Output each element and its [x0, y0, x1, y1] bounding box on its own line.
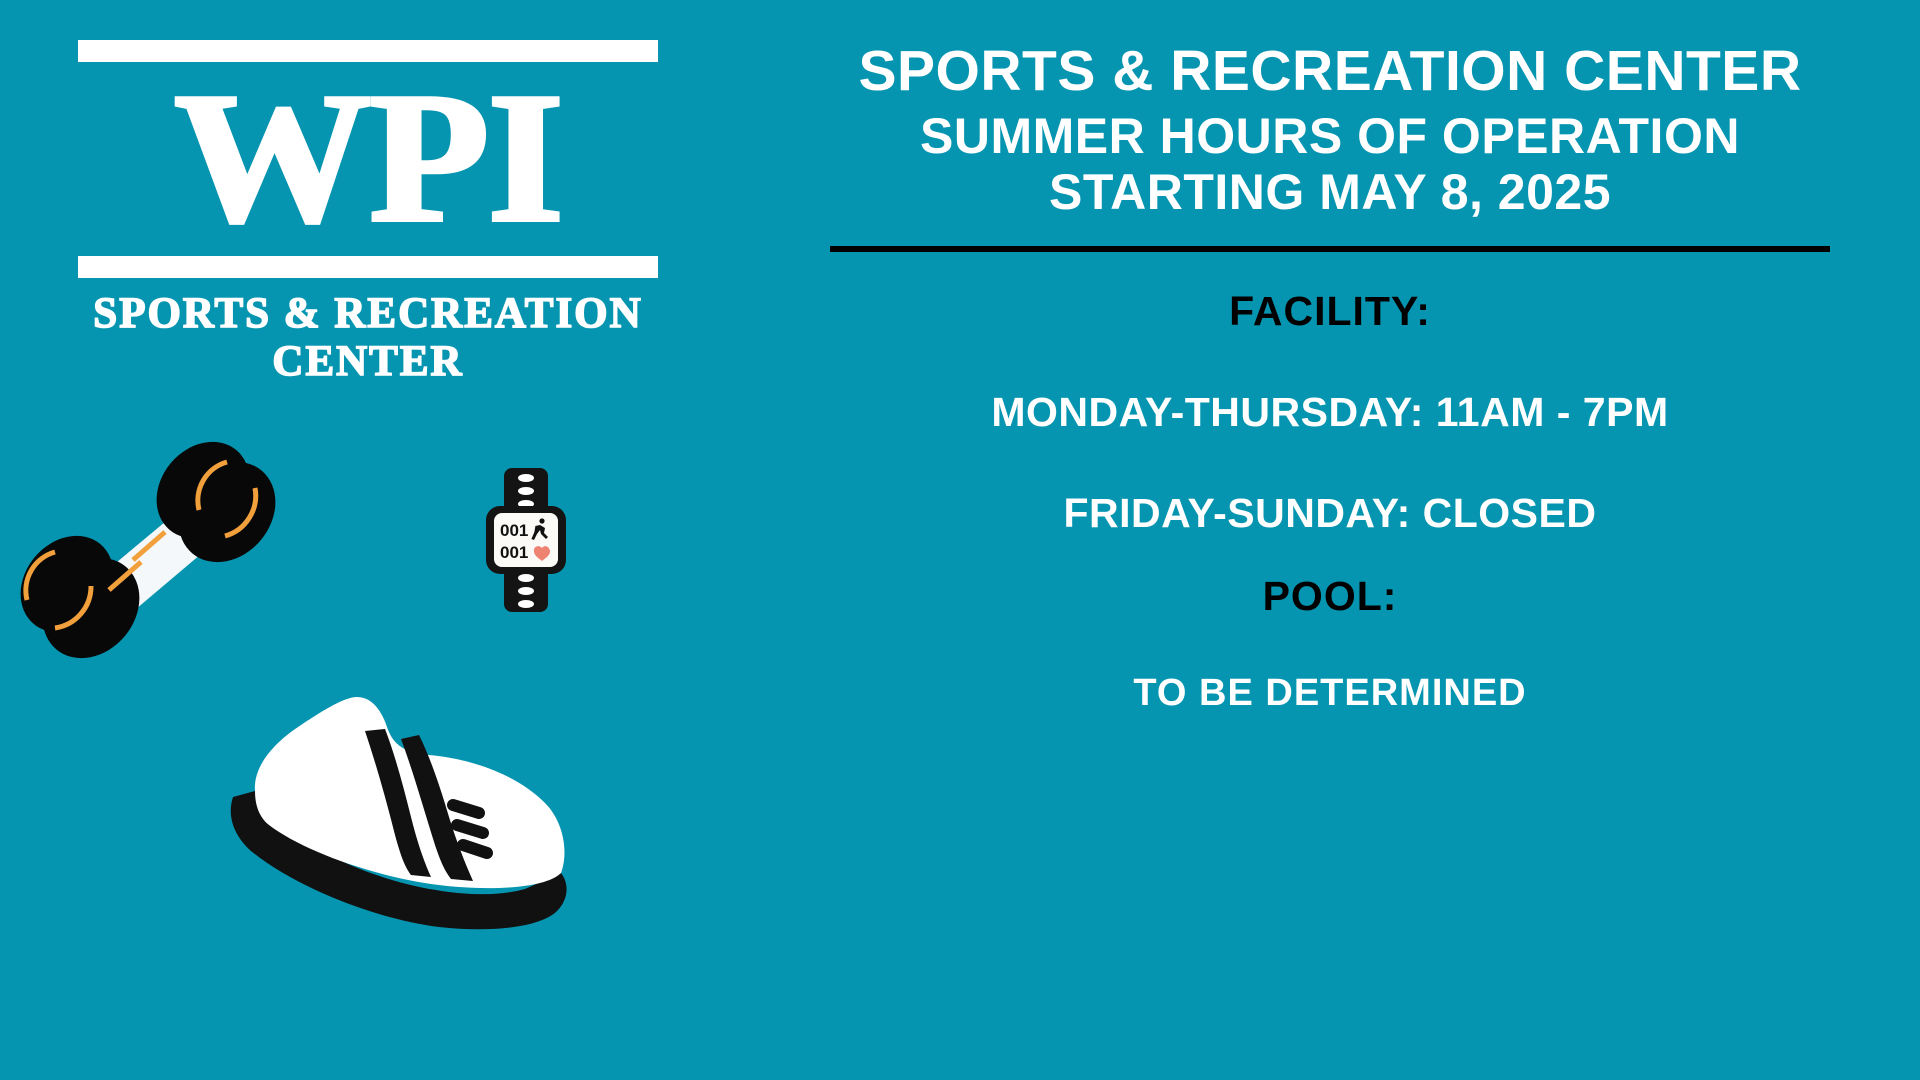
facility-label: FACILITY: — [760, 288, 1900, 335]
pool-hours: TO BE DETERMINED — [760, 672, 1900, 715]
fitness-watch-icon: 001 001 — [480, 468, 572, 617]
logo-wordmark: WPI — [61, 66, 676, 250]
facility-hours-weekend: FRIDAY-SUNDAY: CLOSED — [760, 490, 1900, 537]
header-divider — [830, 246, 1830, 252]
hours-info-panel: SPORTS & RECREATION CENTER SUMMER HOURS … — [760, 40, 1900, 715]
logo-subtitle-line-2: CENTER — [78, 338, 658, 386]
watch-heartrate-value: 001 — [500, 543, 528, 562]
dumbbell-icon — [5, 400, 285, 665]
pool-label: POOL: — [760, 573, 1900, 620]
page-title: SPORTS & RECREATION CENTER — [760, 40, 1900, 104]
sneaker-icon — [225, 675, 577, 946]
logo-subtitle-line-1: SPORTS & RECREATION — [78, 290, 658, 338]
page-subtitle-line-2: STARTING MAY 8, 2025 — [760, 164, 1900, 220]
facility-hours-weekday: MONDAY-THURSDAY: 11AM - 7PM — [760, 389, 1900, 436]
page-subtitle-line-1: SUMMER HOURS OF OPERATION — [760, 108, 1900, 164]
watch-steps-value: 001 — [500, 521, 528, 540]
wpi-sports-recreation-logo: WPI SPORTS & RECREATION CENTER — [78, 40, 658, 386]
